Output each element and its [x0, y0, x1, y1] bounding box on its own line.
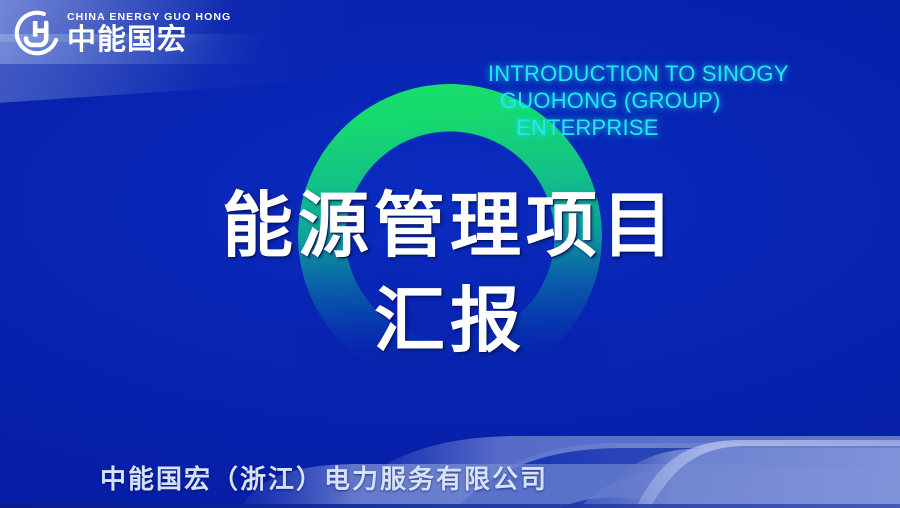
- logo-text-lockup: CHINA ENERGY GUO HONG 中能国宏: [67, 12, 231, 55]
- logo-english-name: CHINA ENERGY GUO HONG: [67, 12, 231, 23]
- english-subtitle-line-2: GUOHONG (GROUP): [488, 87, 900, 114]
- presentation-title-slide: CHINA ENERGY GUO HONG 中能国宏 INTRODUCTION …: [0, 0, 900, 508]
- company-name: 中能国宏（浙江）电力服务有限公司: [100, 465, 548, 496]
- page-title: 能源管理项目 汇报: [0, 178, 900, 368]
- china-energy-guohong-logo-mark: [14, 10, 60, 56]
- bottom-edge-strip: [0, 504, 900, 508]
- page-title-line-2: 汇报: [0, 273, 900, 368]
- logo-chinese-name: 中能国宏: [67, 25, 231, 54]
- english-subtitle-line-1: INTRODUCTION TO SINOGY: [488, 60, 900, 87]
- english-subtitle-line-3: ENTERPRISE: [488, 114, 900, 141]
- brand-logo[interactable]: CHINA ENERGY GUO HONG 中能国宏: [14, 10, 231, 56]
- page-title-line-1: 能源管理项目: [0, 178, 900, 273]
- english-subtitle: INTRODUCTION TO SINOGY GUOHONG (GROUP) E…: [488, 60, 900, 141]
